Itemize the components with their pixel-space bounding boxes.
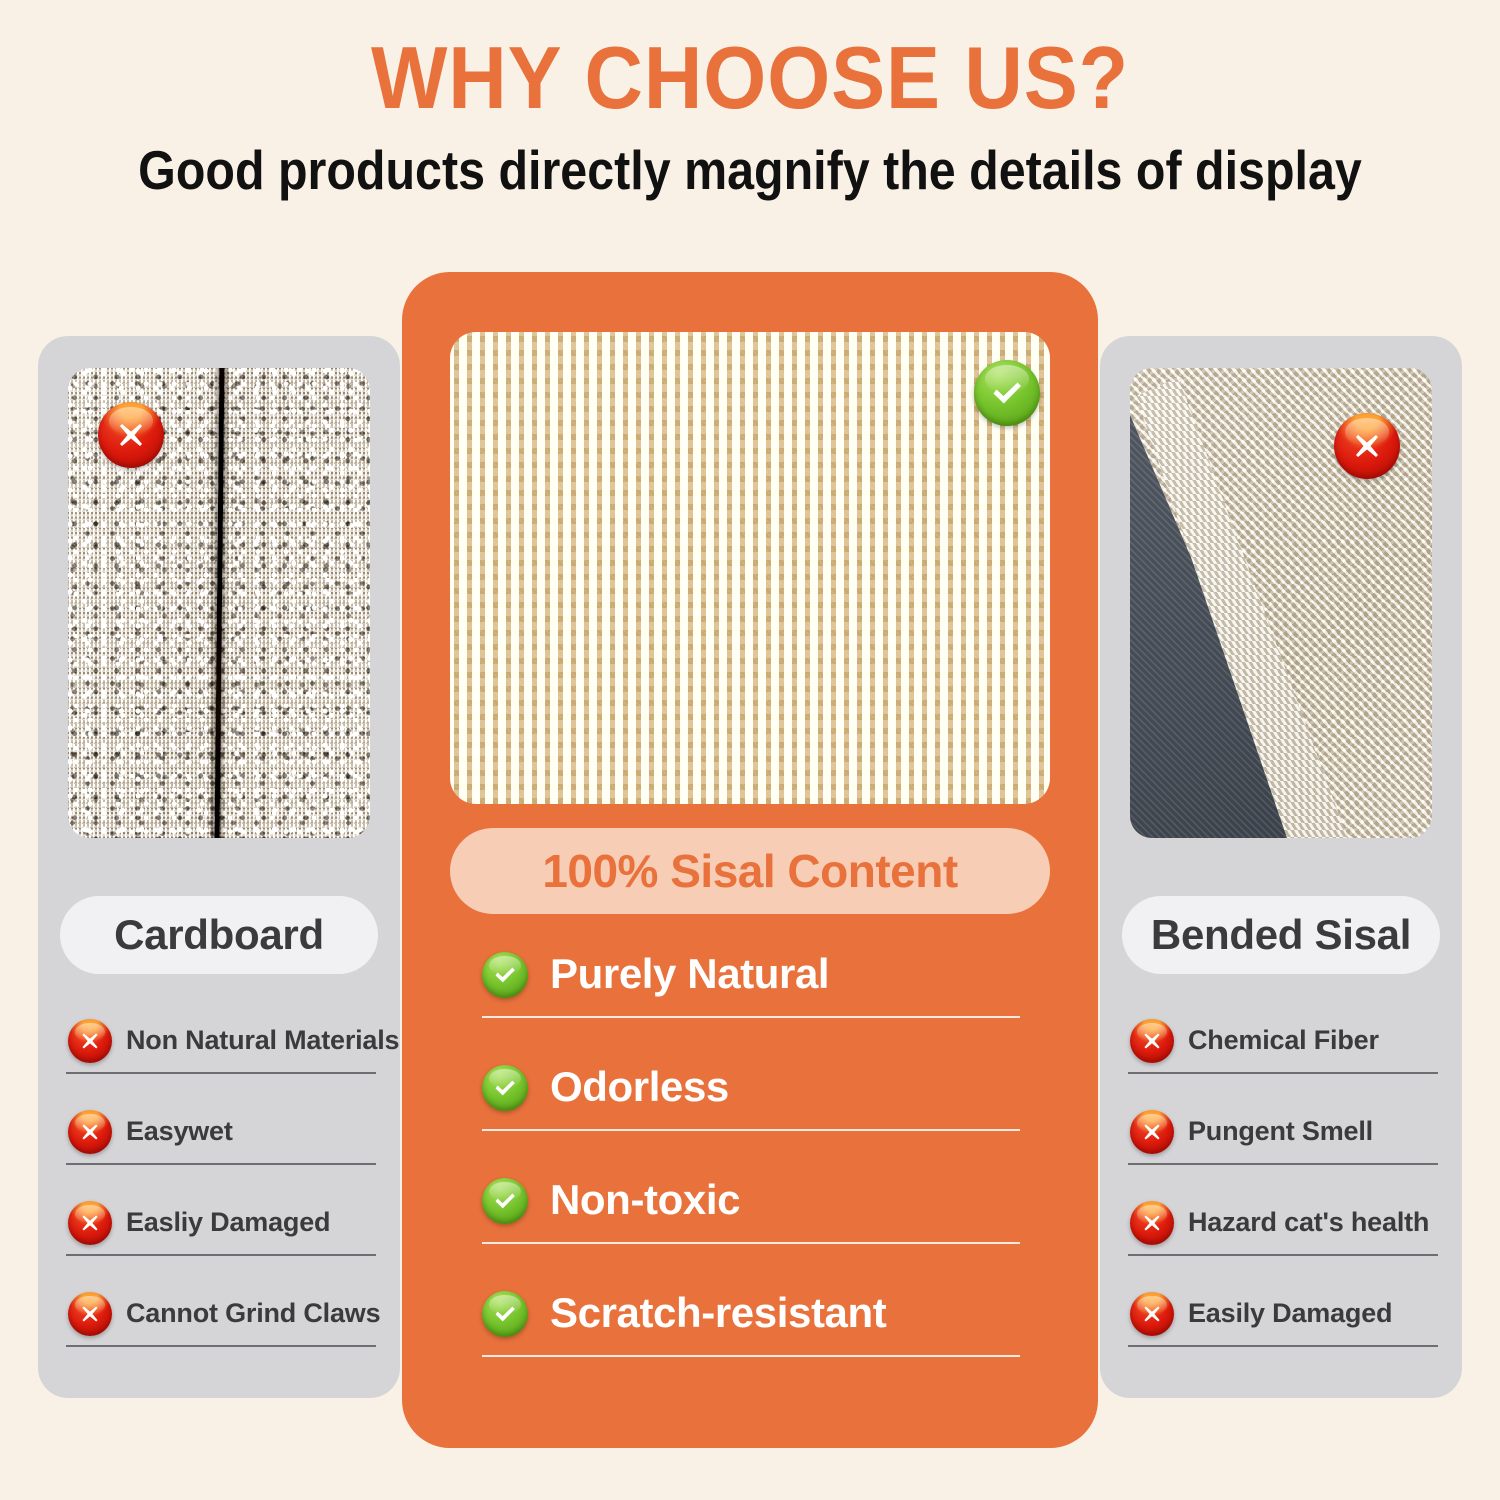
list-item: Easywet [66,1105,376,1165]
list-item: Easliy Damaged [66,1196,376,1256]
comparison-column-cardboard: Cardboard Non Natural Materials Easywet … [38,336,400,1398]
red-x-icon [1130,1292,1174,1336]
red-x-icon [1130,1110,1174,1154]
red-x-icon [1130,1019,1174,1063]
list-item: Cannot Grind Claws [66,1287,376,1347]
column-label-bended-sisal: Bended Sisal [1122,896,1440,974]
header: WHY CHOOSE US? Good products directly ma… [0,0,1500,200]
page-title: WHY CHOOSE US? [60,0,1440,124]
bended-sisal-drawback-list: Chemical Fiber Pungent Smell Hazard cat'… [1128,1014,1438,1378]
comparison-column-sisal-featured: 100% Sisal Content Purely Natural Odorle… [402,272,1098,1448]
list-item-label: Cannot Grind Claws [126,1298,380,1329]
list-item: Purely Natural [482,944,1020,1018]
list-item-label: Hazard cat's health [1188,1207,1429,1238]
green-check-icon [482,1065,528,1111]
list-item-label: Easily Damaged [1188,1298,1392,1329]
list-item: Scratch-resistant [482,1283,1020,1357]
comparison-column-bended-sisal: Bended Sisal Chemical Fiber Pungent Smel… [1100,336,1462,1398]
list-item-label: Non-toxic [550,1176,740,1224]
red-x-icon [68,1292,112,1336]
page-subtitle: Good products directly magnify the detai… [90,124,1410,200]
list-item: Non-toxic [482,1170,1020,1244]
cardboard-photo-card [68,368,370,838]
sisal-benefit-list: Purely Natural Odorless Non-toxic Scratc… [482,944,1020,1396]
list-item-label: Odorless [550,1063,729,1111]
green-check-icon [482,1178,528,1224]
green-check-icon [482,1291,528,1337]
list-item: Non Natural Materials [66,1014,376,1074]
list-item-label: Easywet [126,1116,233,1147]
red-x-icon [98,402,164,468]
list-item-label: Easliy Damaged [126,1207,330,1238]
green-check-icon [974,360,1040,426]
list-item-label: Purely Natural [550,950,829,998]
column-label-cardboard: Cardboard [60,896,378,974]
red-x-icon [68,1201,112,1245]
bended-sisal-photo-card [1130,368,1432,838]
list-item-label: Scratch-resistant [550,1289,886,1337]
list-item: Hazard cat's health [1128,1196,1438,1256]
red-x-icon [68,1019,112,1063]
sisal-content-badge: 100% Sisal Content [450,828,1050,914]
list-item: Chemical Fiber [1128,1014,1438,1074]
list-item: Easily Damaged [1128,1287,1438,1347]
list-item: Pungent Smell [1128,1105,1438,1165]
cardboard-drawback-list: Non Natural Materials Easywet Easliy Dam… [66,1014,376,1378]
sisal-photo-card [450,332,1050,804]
list-item-label: Non Natural Materials [126,1025,399,1056]
red-x-icon [68,1110,112,1154]
red-x-icon [1130,1201,1174,1245]
sisal-texture-image [450,332,1050,804]
green-check-icon [482,952,528,998]
list-item-label: Pungent Smell [1188,1116,1373,1147]
list-item: Odorless [482,1057,1020,1131]
list-item-label: Chemical Fiber [1188,1025,1379,1056]
red-x-icon [1334,413,1400,479]
